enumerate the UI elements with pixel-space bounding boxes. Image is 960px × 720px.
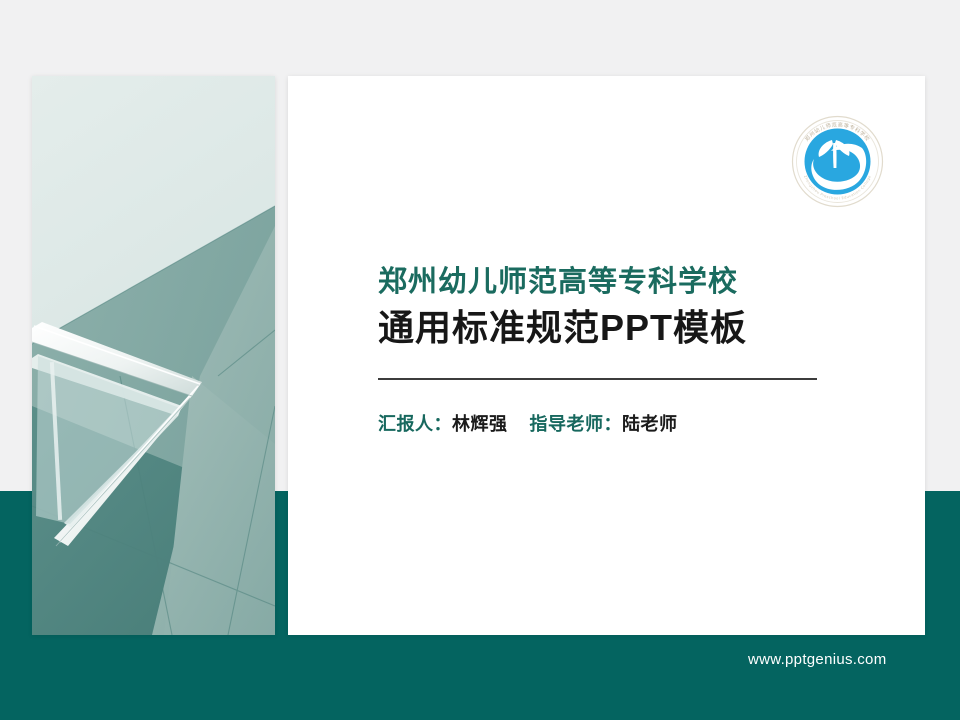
architecture-ceiling-skylight-photo <box>32 76 275 635</box>
title-divider <box>378 378 817 380</box>
title-block: 郑州幼儿师范高等专科学校 通用标准规范PPT模板 汇报人：林辉强指导老师：陆老师 <box>378 265 838 436</box>
school-logo: 郑州幼儿师范高等专科学校 Zhengzhou Preschool Educati… <box>786 110 889 213</box>
advisor-name: 陆老师 <box>622 414 678 434</box>
site-watermark: www.pptgenius.com <box>748 651 887 668</box>
byline: 汇报人：林辉强指导老师：陆老师 <box>378 410 838 436</box>
advisor-label: 指导老师： <box>530 414 623 434</box>
presenter-label: 汇报人： <box>378 414 452 434</box>
school-logo-emblem: 郑州幼儿师范高等专科学校 Zhengzhou Preschool Educati… <box>786 110 889 213</box>
cover-photo-panel <box>32 76 275 635</box>
presenter-name: 林辉强 <box>452 414 508 434</box>
school-name-heading: 郑州幼儿师范高等专科学校 <box>378 265 838 299</box>
presentation-slide: 郑州幼儿师范高等专科学校 Zhengzhou Preschool Educati… <box>0 0 960 720</box>
presentation-title: 通用标准规范PPT模板 <box>378 305 838 352</box>
